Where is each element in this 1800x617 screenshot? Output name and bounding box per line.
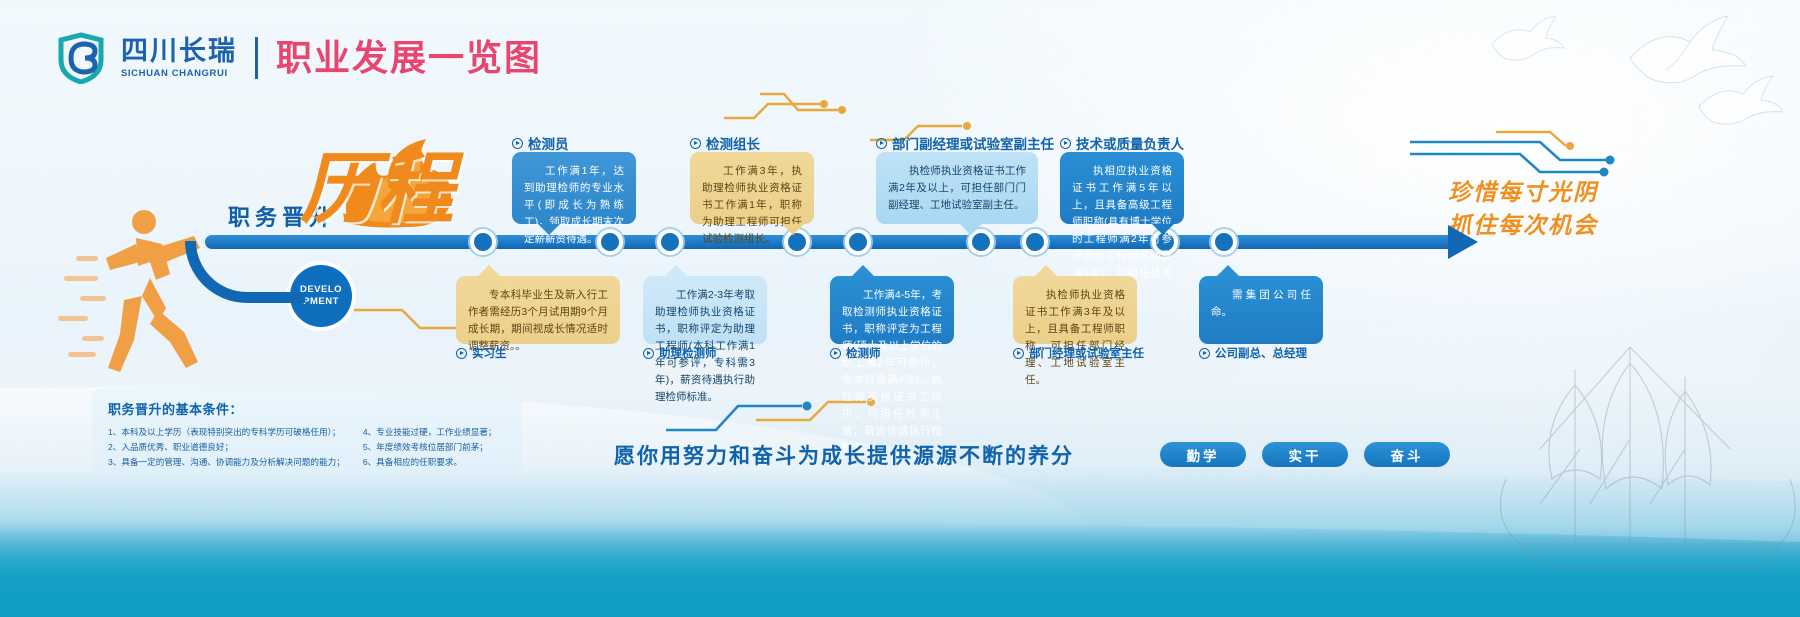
play-circle-icon bbox=[876, 138, 887, 149]
card-body: 执检师执业资格证书工作满3年及以上，且具备工程师职称，可担任部门经理、工地试验室… bbox=[1025, 287, 1125, 389]
milestone-card-top-0[interactable]: 工作满1年，达到助理检师的专业水平(即成长为熟练工)，领取成长期末次定薪薪资待遇… bbox=[512, 152, 636, 224]
card-title-text: 助理检测师 bbox=[659, 345, 717, 361]
timeline-arrow-icon bbox=[1448, 225, 1478, 259]
play-circle-icon bbox=[643, 348, 654, 359]
card-pointer-icon bbox=[960, 224, 982, 235]
milestone-card-bottom-3[interactable]: 执检师执业资格证书工作满3年及以上，且具备工程师职称，可担任部门经理、工地试验室… bbox=[1013, 276, 1137, 344]
conditions-list-right: 4、专业技能过硬，工作业绩显著； 5、年度绩效考核位居部门前茅； 6、具备相应的… bbox=[363, 425, 497, 469]
brand-header: 四川长瑞 SICHUAN CHANGRUI 职业发展一览图 bbox=[55, 32, 542, 84]
card-pointer-icon bbox=[1035, 265, 1057, 276]
card-title-text: 公司副总、总经理 bbox=[1215, 345, 1307, 361]
footer-pill-2[interactable]: 奋斗 bbox=[1364, 442, 1450, 467]
card-title-text: 检测员 bbox=[528, 133, 569, 153]
card-title-text: 检测组长 bbox=[706, 133, 760, 153]
card-title-top-0: 检测员 bbox=[512, 133, 569, 153]
brand-name-cn: 四川长瑞 bbox=[121, 37, 237, 65]
card-title-bottom-4: 公司副总、总经理 bbox=[1199, 345, 1307, 361]
dove-icon bbox=[1620, 8, 1750, 98]
condition-item: 6、具备相应的任职要求。 bbox=[363, 455, 497, 470]
card-pointer-icon bbox=[478, 265, 500, 276]
footer-slogan: 愿你用努力和奋斗为成长提供源源不断的养分 bbox=[614, 440, 1074, 470]
development-line2: PMENT bbox=[303, 296, 339, 308]
card-title-text: 部门经理或试验室主任 bbox=[1029, 345, 1144, 361]
milestone-card-top-1[interactable]: 工作满3年，执助理检师执业资格证书工作满1年，职称为助理工程师可担任试验检测组长… bbox=[690, 152, 814, 224]
footer-pill-1[interactable]: 实干 bbox=[1262, 442, 1348, 467]
card-body: 需集团公司任命。 bbox=[1211, 287, 1311, 321]
play-circle-icon bbox=[1199, 348, 1210, 359]
milestone-card-bottom-0[interactable]: 专本科毕业生及新入行工作者需经历3个月试用期9个月成长期，期间视成长情况适时调整… bbox=[456, 276, 620, 344]
milestone-card-bottom-1[interactable]: 工作满2-3年考取助理检师执业资格证书，职称评定为助理工程师(本科工作满1年可参… bbox=[643, 276, 767, 344]
condition-item: 1、本科及以上学历（表现特别突出的专科学历可破格任用）； bbox=[108, 425, 345, 440]
timeline-node[interactable] bbox=[657, 229, 683, 255]
footer-pill-0[interactable]: 勤学 bbox=[1160, 442, 1246, 467]
play-circle-icon bbox=[830, 348, 841, 359]
milestone-card-top-2[interactable]: 执检师执业资格证书工作满2年及以上，可担任部门门副经理、工地试验室副主任。 bbox=[876, 152, 1038, 224]
conditions-list-left: 1、本科及以上学历（表现特别突出的专科学历可破格任用）； 2、入品质优秀、职业道… bbox=[108, 425, 345, 469]
circuit-decoration bbox=[720, 88, 890, 124]
timeline-node[interactable] bbox=[1211, 229, 1237, 255]
card-title-text: 技术或质量负责人 bbox=[1076, 133, 1184, 153]
dove-icon bbox=[1693, 72, 1785, 134]
condition-item: 5、年度绩效考核位居部门前茅； bbox=[363, 440, 497, 455]
timeline-axis bbox=[205, 235, 1455, 249]
footer-pill-group: 勤学 实干 奋斗 bbox=[1160, 442, 1450, 467]
card-title-top-2: 部门副经理或试验室副主任 bbox=[876, 133, 1054, 153]
card-title-bottom-0: 实习生 bbox=[456, 345, 507, 361]
card-pointer-icon bbox=[852, 265, 874, 276]
development-line1: DEVELO bbox=[300, 284, 342, 296]
milestone-card-top-3[interactable]: 执相应执业资格证书工作满5年以上，且具备高级工程师职称(具有博士学位的工程师满2… bbox=[1060, 152, 1184, 224]
card-title-top-1: 检测组长 bbox=[690, 133, 760, 153]
card-pointer-icon bbox=[1152, 224, 1174, 235]
card-pointer-icon bbox=[1217, 265, 1239, 276]
play-circle-icon bbox=[512, 138, 523, 149]
play-circle-icon bbox=[456, 348, 467, 359]
card-body: 工作满3年，执助理检师执业资格证书工作满1年，职称为助理工程师可担任试验检测组长… bbox=[702, 163, 802, 248]
card-pointer-icon bbox=[665, 265, 687, 276]
card-body: 工作满4-5年，考取检测师执业资格证书，职称评定为工程师(硕士及以上学位的助工满… bbox=[842, 287, 942, 457]
milestone-card-bottom-4[interactable]: 需集团公司任命。 bbox=[1199, 276, 1323, 344]
timeline-hook bbox=[185, 241, 305, 303]
running-man-illustration bbox=[58, 200, 218, 380]
background-wave-lower bbox=[0, 521, 1800, 617]
promotion-conditions-panel: 职务晋升的基本条件： 1、本科及以上学历（表现特别突出的专科学历可破格任用）； … bbox=[92, 388, 522, 478]
card-body: 执检师执业资格证书工作满2年及以上，可担任部门门副经理、工地试验室副主任。 bbox=[888, 163, 1026, 214]
card-title-text: 部门副经理或试验室副主任 bbox=[892, 133, 1054, 153]
condition-item: 2、入品质优秀、职业道德良好； bbox=[108, 440, 345, 455]
card-body: 工作满1年，达到助理检师的专业水平(即成长为熟练工)，领取成长期末次定薪薪资待遇… bbox=[524, 163, 624, 248]
condition-item: 4、专业技能过硬，工作业绩显著； bbox=[363, 425, 497, 440]
dove-icon bbox=[1488, 14, 1566, 72]
card-pointer-icon bbox=[538, 224, 560, 235]
brand-name-block: 四川长瑞 SICHUAN CHANGRUI bbox=[121, 37, 237, 79]
card-pointer-icon bbox=[782, 224, 804, 235]
condition-item: 3、具备一定的管理、沟通、协调能力及分析解决问题的能力； bbox=[108, 455, 345, 470]
card-title-bottom-2: 检测师 bbox=[830, 345, 881, 361]
play-circle-icon bbox=[690, 138, 701, 149]
timeline-node[interactable] bbox=[845, 229, 871, 255]
brand-name-en: SICHUAN CHANGRUI bbox=[121, 68, 237, 79]
banner-word: 历程 bbox=[300, 150, 452, 228]
card-title-top-3: 技术或质量负责人 bbox=[1060, 133, 1184, 153]
play-circle-icon bbox=[1013, 348, 1024, 359]
timeline-node[interactable] bbox=[1022, 229, 1048, 255]
conditions-heading: 职务晋升的基本条件： bbox=[108, 399, 506, 418]
card-title-bottom-3: 部门经理或试验室主任 bbox=[1013, 345, 1144, 361]
page-title: 职业发展一览图 bbox=[276, 40, 542, 76]
background-wave-upper bbox=[0, 467, 1800, 617]
shield-c3-logo-icon bbox=[55, 32, 107, 84]
card-title-text: 实习生 bbox=[472, 345, 507, 361]
timeline-node[interactable] bbox=[470, 229, 496, 255]
sailing-ship-illustration bbox=[1480, 329, 1800, 589]
card-title-bottom-1: 助理检测师 bbox=[643, 345, 717, 361]
card-title-text: 检测师 bbox=[846, 345, 881, 361]
milestone-card-bottom-2[interactable]: 工作满4-5年，考取检测师执业资格证书，职称评定为工程师(硕士及以上学位的助工满… bbox=[830, 276, 954, 344]
brand-divider bbox=[255, 37, 258, 79]
play-circle-icon bbox=[1060, 138, 1071, 149]
